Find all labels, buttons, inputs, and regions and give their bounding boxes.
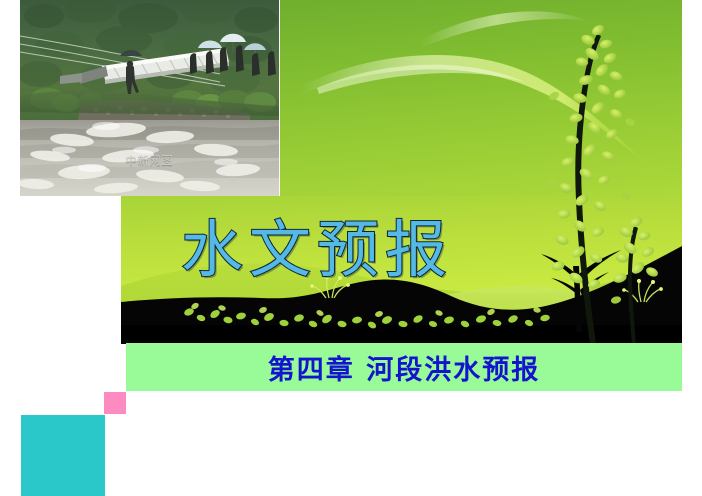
presentation-slide: 中新网图 水文预报 第四章 河段洪水预报 [0, 0, 702, 496]
right-white-margin [682, 0, 702, 496]
cyan-square-decoration [21, 415, 105, 496]
flood-photo: 中新网图 [20, 0, 279, 196]
slide-main-title: 水文预报 [181, 219, 453, 281]
slide-subtitle-bar: 第四章 河段洪水预报 [126, 343, 682, 391]
slide-subtitle-text: 第四章 河段洪水预报 [268, 348, 540, 387]
pink-square-decoration [104, 392, 126, 414]
photo-watermark-text: 中新网图 [20, 152, 279, 168]
